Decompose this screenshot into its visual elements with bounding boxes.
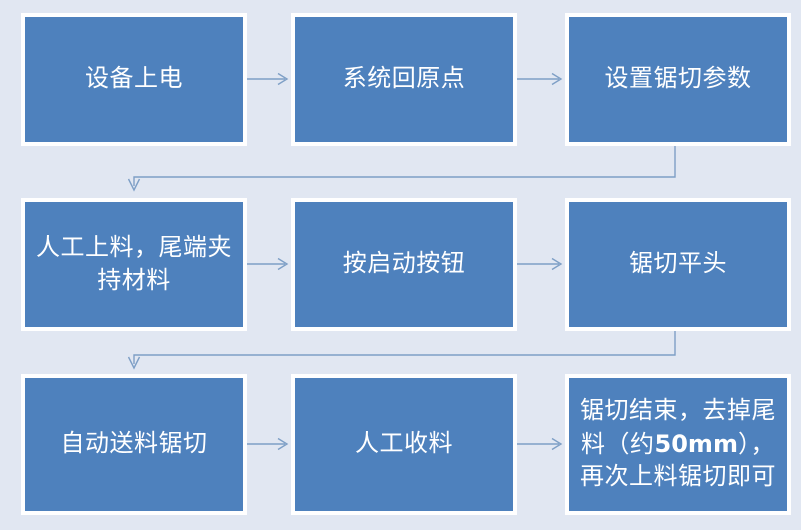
- flow-node-设置锯切参数[interactable]: 设置锯切参数: [565, 13, 791, 146]
- flow-node-label: 设备上电: [35, 63, 233, 96]
- flow-node-label: 锯切平头: [579, 248, 777, 281]
- flow-node-按启动按钮[interactable]: 按启动按钮: [291, 198, 517, 331]
- arrow-n5-to-n6: [517, 257, 565, 271]
- flow-node-锯切结束去掉尾料[interactable]: 锯切结束，去掉尾料（约50mm），再次上料锯切即可: [565, 374, 791, 515]
- flow-node-自动送料锯切[interactable]: 自动送料锯切: [21, 374, 247, 515]
- flow-node-系统回原点[interactable]: 系统回原点: [291, 13, 517, 146]
- flow-node-label: 设置锯切参数: [579, 63, 777, 96]
- flowchart-canvas: 设备上电 系统回原点 设置锯切参数 人工上料，尾端夹持材料: [0, 0, 801, 530]
- flow-node-人工上料尾端夹持材料[interactable]: 人工上料，尾端夹持材料: [21, 198, 247, 331]
- flow-node-人工收料[interactable]: 人工收料: [291, 374, 517, 515]
- flow-node-label: 自动送料锯切: [35, 428, 233, 461]
- arrow-n8-to-n9: [517, 437, 565, 451]
- connector-n3-to-n4: [125, 146, 685, 198]
- flow-node-label: 系统回原点: [305, 63, 503, 96]
- flow-node-label: 人工收料: [305, 428, 503, 461]
- flow-node-label: 锯切结束，去掉尾料（约50mm），再次上料锯切即可: [579, 395, 777, 494]
- arrow-n7-to-n8: [247, 437, 291, 451]
- flow-node-label: 人工上料，尾端夹持材料: [35, 232, 233, 297]
- arrow-n4-to-n5: [247, 257, 291, 271]
- flow-node-设备上电[interactable]: 设备上电: [21, 13, 247, 146]
- flow-node-锯切平头[interactable]: 锯切平头: [565, 198, 791, 331]
- arrow-n1-to-n2: [247, 72, 291, 86]
- label-part-number: 50mm: [655, 430, 738, 458]
- connector-n6-to-n7: [125, 331, 685, 379]
- flow-node-label: 按启动按钮: [305, 248, 503, 281]
- arrow-n2-to-n3: [517, 72, 565, 86]
